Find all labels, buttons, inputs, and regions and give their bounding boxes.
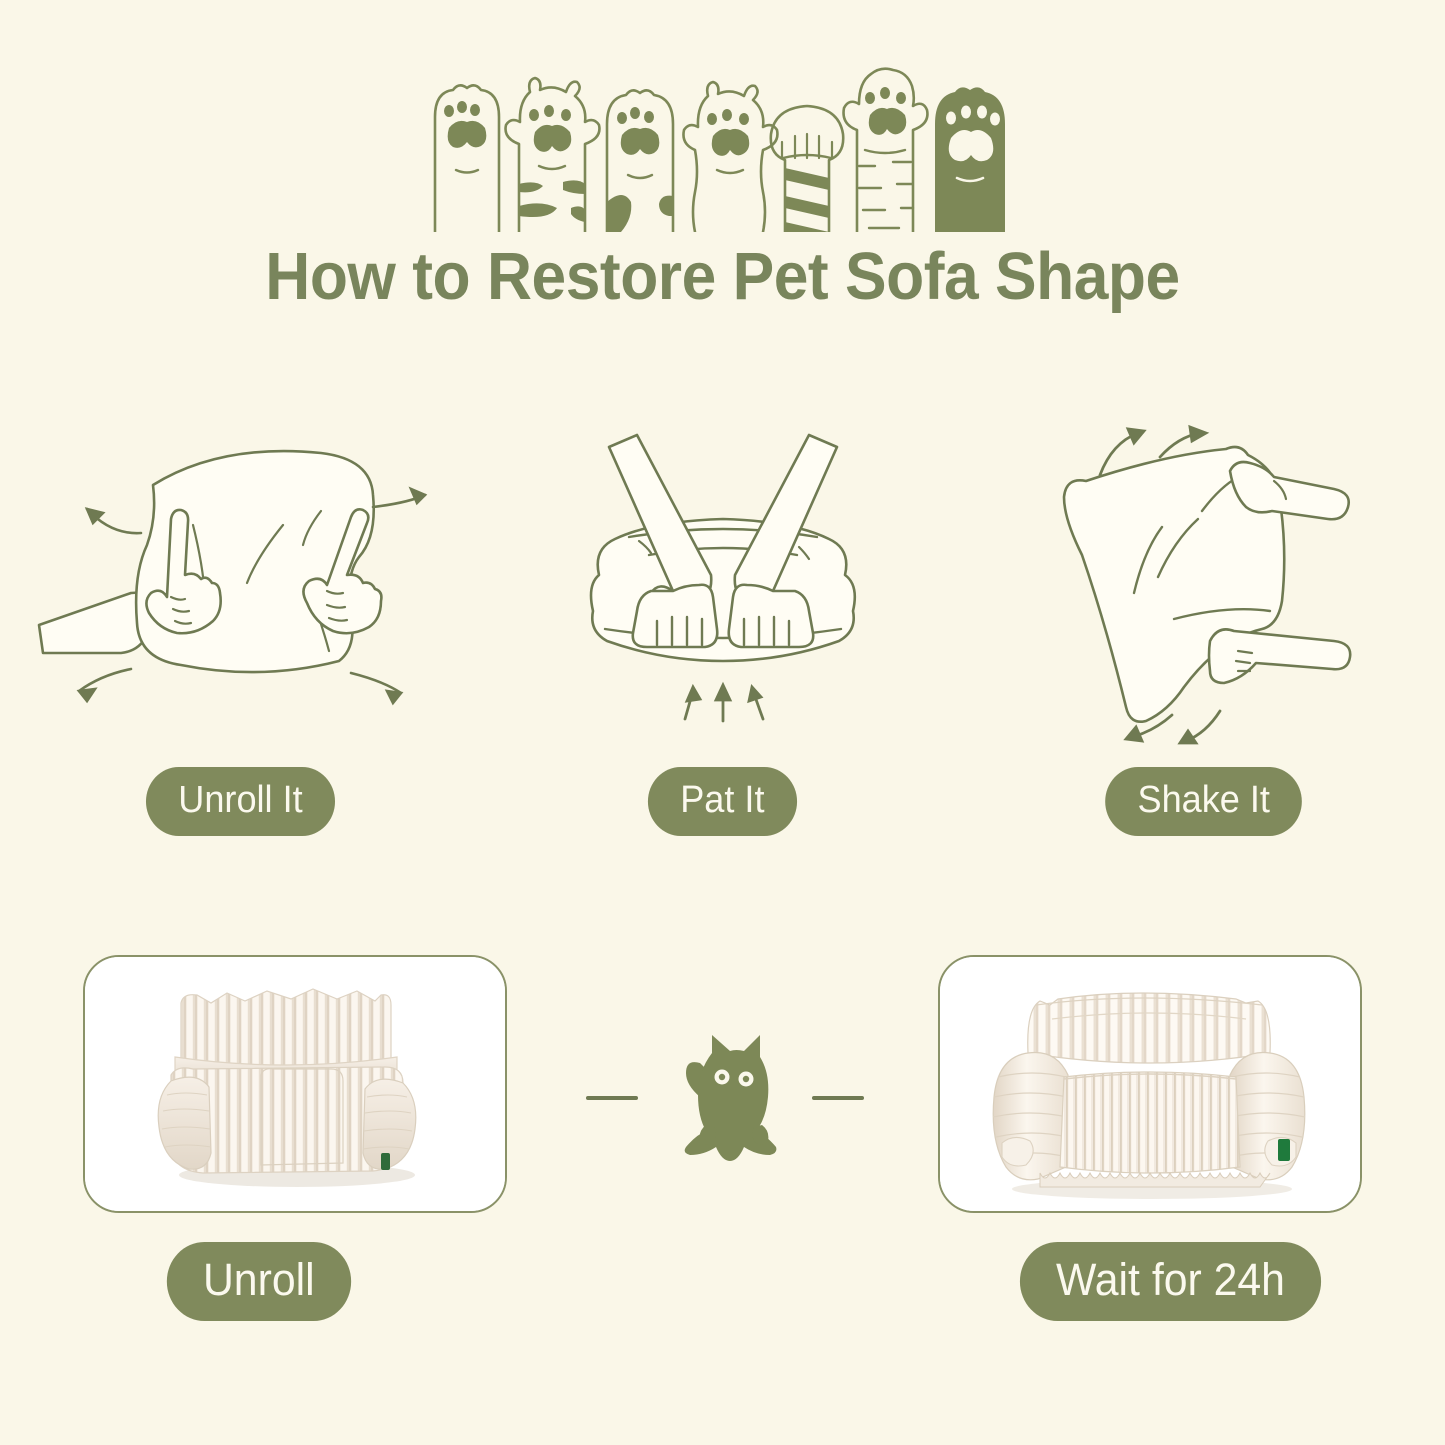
cat-paws-row bbox=[0, 62, 1445, 232]
step-illustration-unroll bbox=[21, 415, 461, 745]
photo-card-compressed bbox=[83, 955, 507, 1213]
photo-card-expanded bbox=[938, 955, 1362, 1213]
infographic-page: How to Restore Pet Sofa Shape bbox=[0, 0, 1445, 1445]
hands-unrolling-cushion-icon bbox=[21, 425, 461, 735]
brand-tag bbox=[381, 1153, 390, 1170]
step-label-shake-it[interactable]: Shake It bbox=[1106, 767, 1303, 836]
step-pat-it: Pat It bbox=[482, 415, 964, 855]
arrows-up bbox=[685, 685, 763, 721]
paw-claws-wavy-icon bbox=[683, 82, 777, 232]
hands-shaking-cushion-icon bbox=[1034, 415, 1374, 745]
paw-solid-icon bbox=[935, 87, 1005, 232]
step-unroll-it: Unroll It bbox=[0, 415, 482, 855]
paw-blob-patch-icon bbox=[607, 90, 673, 232]
paw-dash-striped-icon bbox=[843, 69, 927, 232]
compare-divider bbox=[540, 1010, 910, 1185]
step-illustration-pat bbox=[553, 415, 893, 745]
divider-dash-left bbox=[586, 1096, 638, 1100]
step-label-unroll-it[interactable]: Unroll It bbox=[146, 767, 335, 836]
hands-patting-cushion-icon bbox=[553, 425, 893, 735]
cat-paws-icon bbox=[423, 62, 1023, 232]
step-label-wrap-shake: Shake It bbox=[1100, 767, 1307, 836]
compare-label-unroll[interactable]: Unroll bbox=[167, 1242, 351, 1321]
compare-label-wait-24h[interactable]: Wait for 24h bbox=[1020, 1242, 1321, 1321]
step-label-wrap-pat: Pat It bbox=[644, 767, 801, 836]
page-title: How to Restore Pet Sofa Shape bbox=[51, 243, 1395, 310]
paw-mitten-striped-icon bbox=[770, 106, 842, 232]
sitting-cat-icon bbox=[660, 1023, 790, 1173]
step-label-wrap-unroll: Unroll It bbox=[141, 767, 340, 836]
compressed-pet-sofa-photo bbox=[85, 957, 505, 1211]
divider-dash-right bbox=[812, 1096, 864, 1100]
compare-labels-row: Unroll Wait for 24h bbox=[0, 1242, 1445, 1322]
steps-row: Unroll It bbox=[0, 415, 1445, 855]
paw-claws-patched-icon bbox=[505, 78, 599, 232]
step-shake-it: Shake It bbox=[963, 415, 1445, 855]
step-label-pat-it[interactable]: Pat It bbox=[648, 767, 797, 836]
expanded-pet-sofa-photo bbox=[940, 957, 1360, 1211]
compare-label-wrap-right: Wait for 24h bbox=[1012, 1242, 1329, 1321]
paw-plain-icon bbox=[435, 85, 499, 232]
brand-tag bbox=[1278, 1139, 1290, 1161]
step-illustration-shake bbox=[1034, 415, 1374, 745]
compare-label-wrap-left: Unroll bbox=[162, 1242, 356, 1321]
